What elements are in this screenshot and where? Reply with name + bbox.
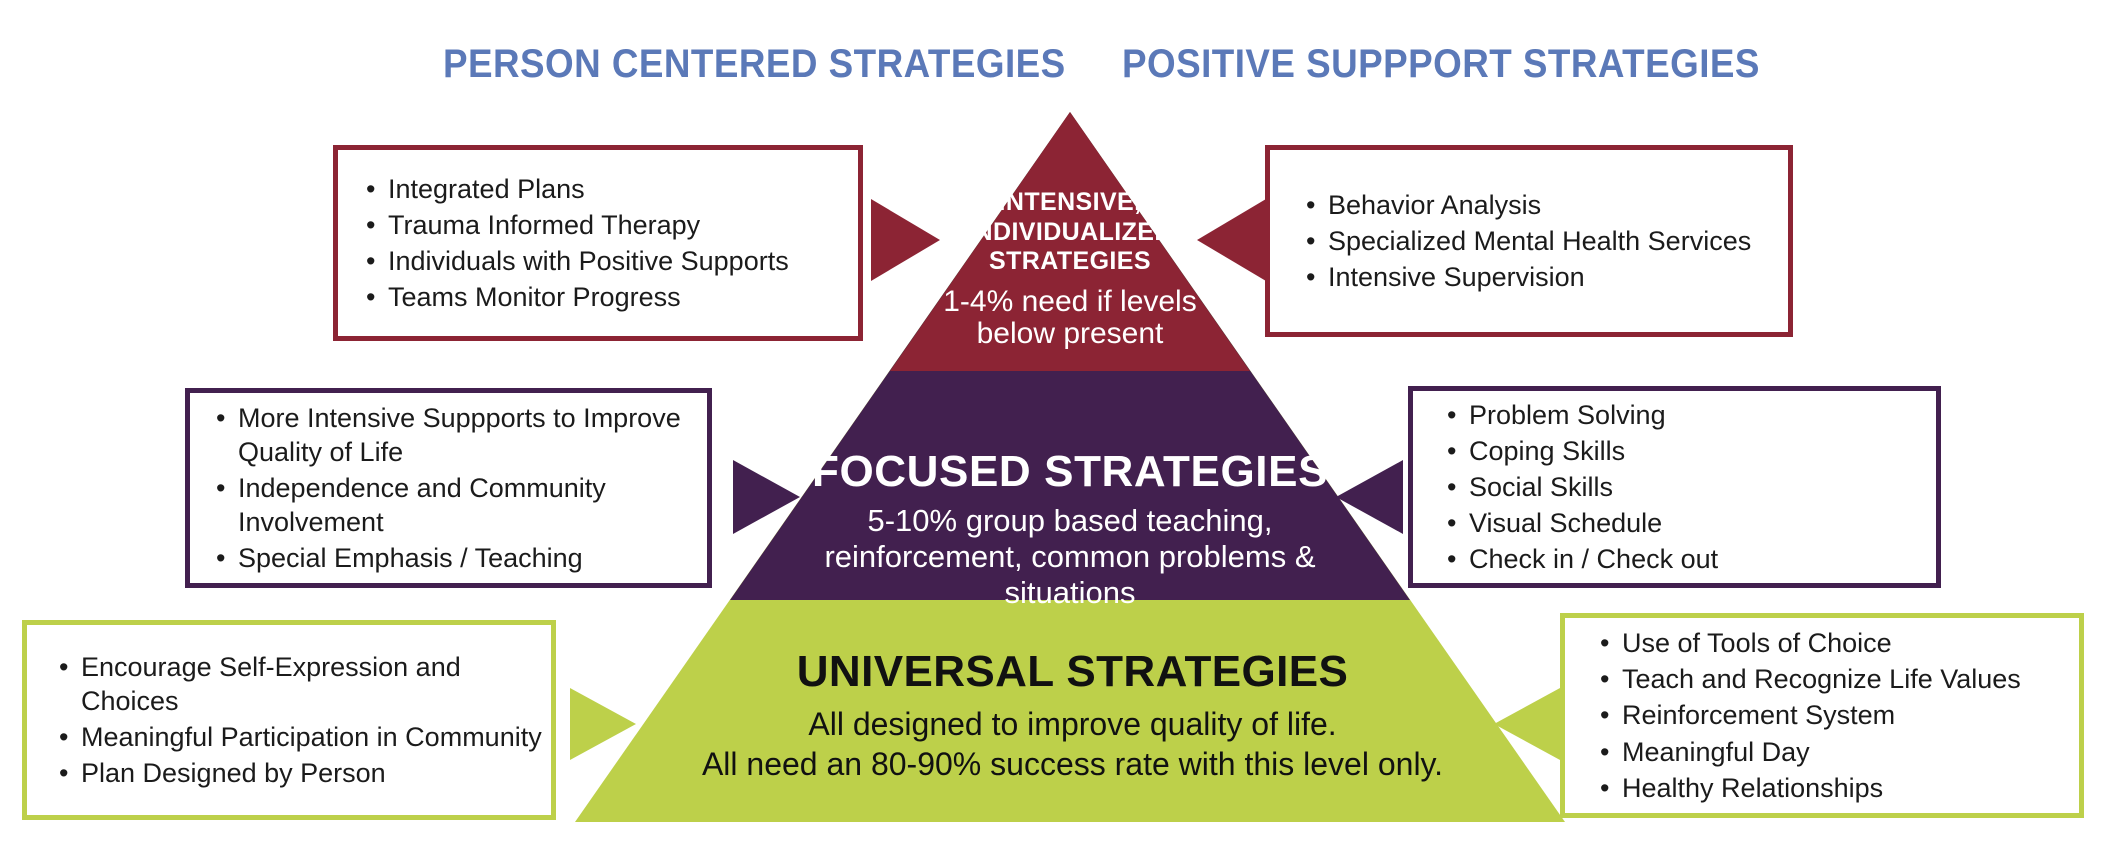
list-item: More Intensive Suppports to Improve Qual… — [216, 401, 707, 469]
callout-top-left-list: Integrated Plans Trauma Informed Therapy… — [366, 170, 858, 316]
list-item: Teach and Recognize Life Values — [1600, 662, 2079, 696]
pyramid-diagram: PERSON CENTERED STRATEGIES POSITIVE SUPP… — [0, 0, 2118, 860]
callout-middle-right: Problem Solving Coping Skills Social Ski… — [1408, 386, 1941, 588]
callout-bottom-left-list: Encourage Self-Expression and Choices Me… — [59, 648, 551, 792]
list-item: Individuals with Positive Supports — [366, 244, 858, 278]
list-item: Encourage Self-Expression and Choices — [59, 650, 551, 718]
list-item: Specialized Mental Health Services — [1306, 224, 1788, 258]
list-item: Use of Tools of Choice — [1600, 626, 2079, 660]
list-item: Healthy Relationships — [1600, 771, 2079, 805]
list-item: Problem Solving — [1447, 398, 1936, 432]
callout-top-right-list: Behavior Analysis Specialized Mental Hea… — [1306, 186, 1788, 296]
list-item: Visual Schedule — [1447, 506, 1936, 540]
list-item: Check in / Check out — [1447, 542, 1936, 576]
callout-top-right: Behavior Analysis Specialized Mental Hea… — [1265, 145, 1793, 337]
list-item: Special Emphasis / Teaching — [216, 541, 707, 575]
list-item: Reinforcement System — [1600, 698, 2079, 732]
callout-middle-left-list: More Intensive Suppports to Improve Qual… — [216, 399, 707, 577]
list-item: Meaningful Participation in Community — [59, 720, 551, 754]
callout-bottom-right-list: Use of Tools of Choice Teach and Recogni… — [1600, 624, 2079, 806]
list-item: Social Skills — [1447, 470, 1936, 504]
list-item: Independence and Community Involvement — [216, 471, 707, 539]
arrow-left-icon-top-right — [1197, 199, 1266, 281]
callout-bottom-right: Use of Tools of Choice Teach and Recogni… — [1560, 613, 2084, 818]
callout-bottom-left: Encourage Self-Expression and Choices Me… — [22, 620, 556, 820]
list-item: Intensive Supervision — [1306, 260, 1788, 294]
callout-middle-left: More Intensive Suppports to Improve Qual… — [185, 388, 712, 588]
callout-top-left: Integrated Plans Trauma Informed Therapy… — [333, 145, 863, 341]
list-item: Trauma Informed Therapy — [366, 208, 858, 242]
list-item: Integrated Plans — [366, 172, 858, 206]
tier-intensive-shape — [890, 112, 1250, 371]
arrow-right-icon-top-left — [871, 199, 940, 281]
list-item: Teams Monitor Progress — [366, 280, 858, 314]
list-item: Meaningful Day — [1600, 735, 2079, 769]
list-item: Plan Designed by Person — [59, 756, 551, 790]
list-item: Behavior Analysis — [1306, 188, 1788, 222]
list-item: Coping Skills — [1447, 434, 1936, 468]
callout-middle-right-list: Problem Solving Coping Skills Social Ski… — [1447, 396, 1936, 578]
